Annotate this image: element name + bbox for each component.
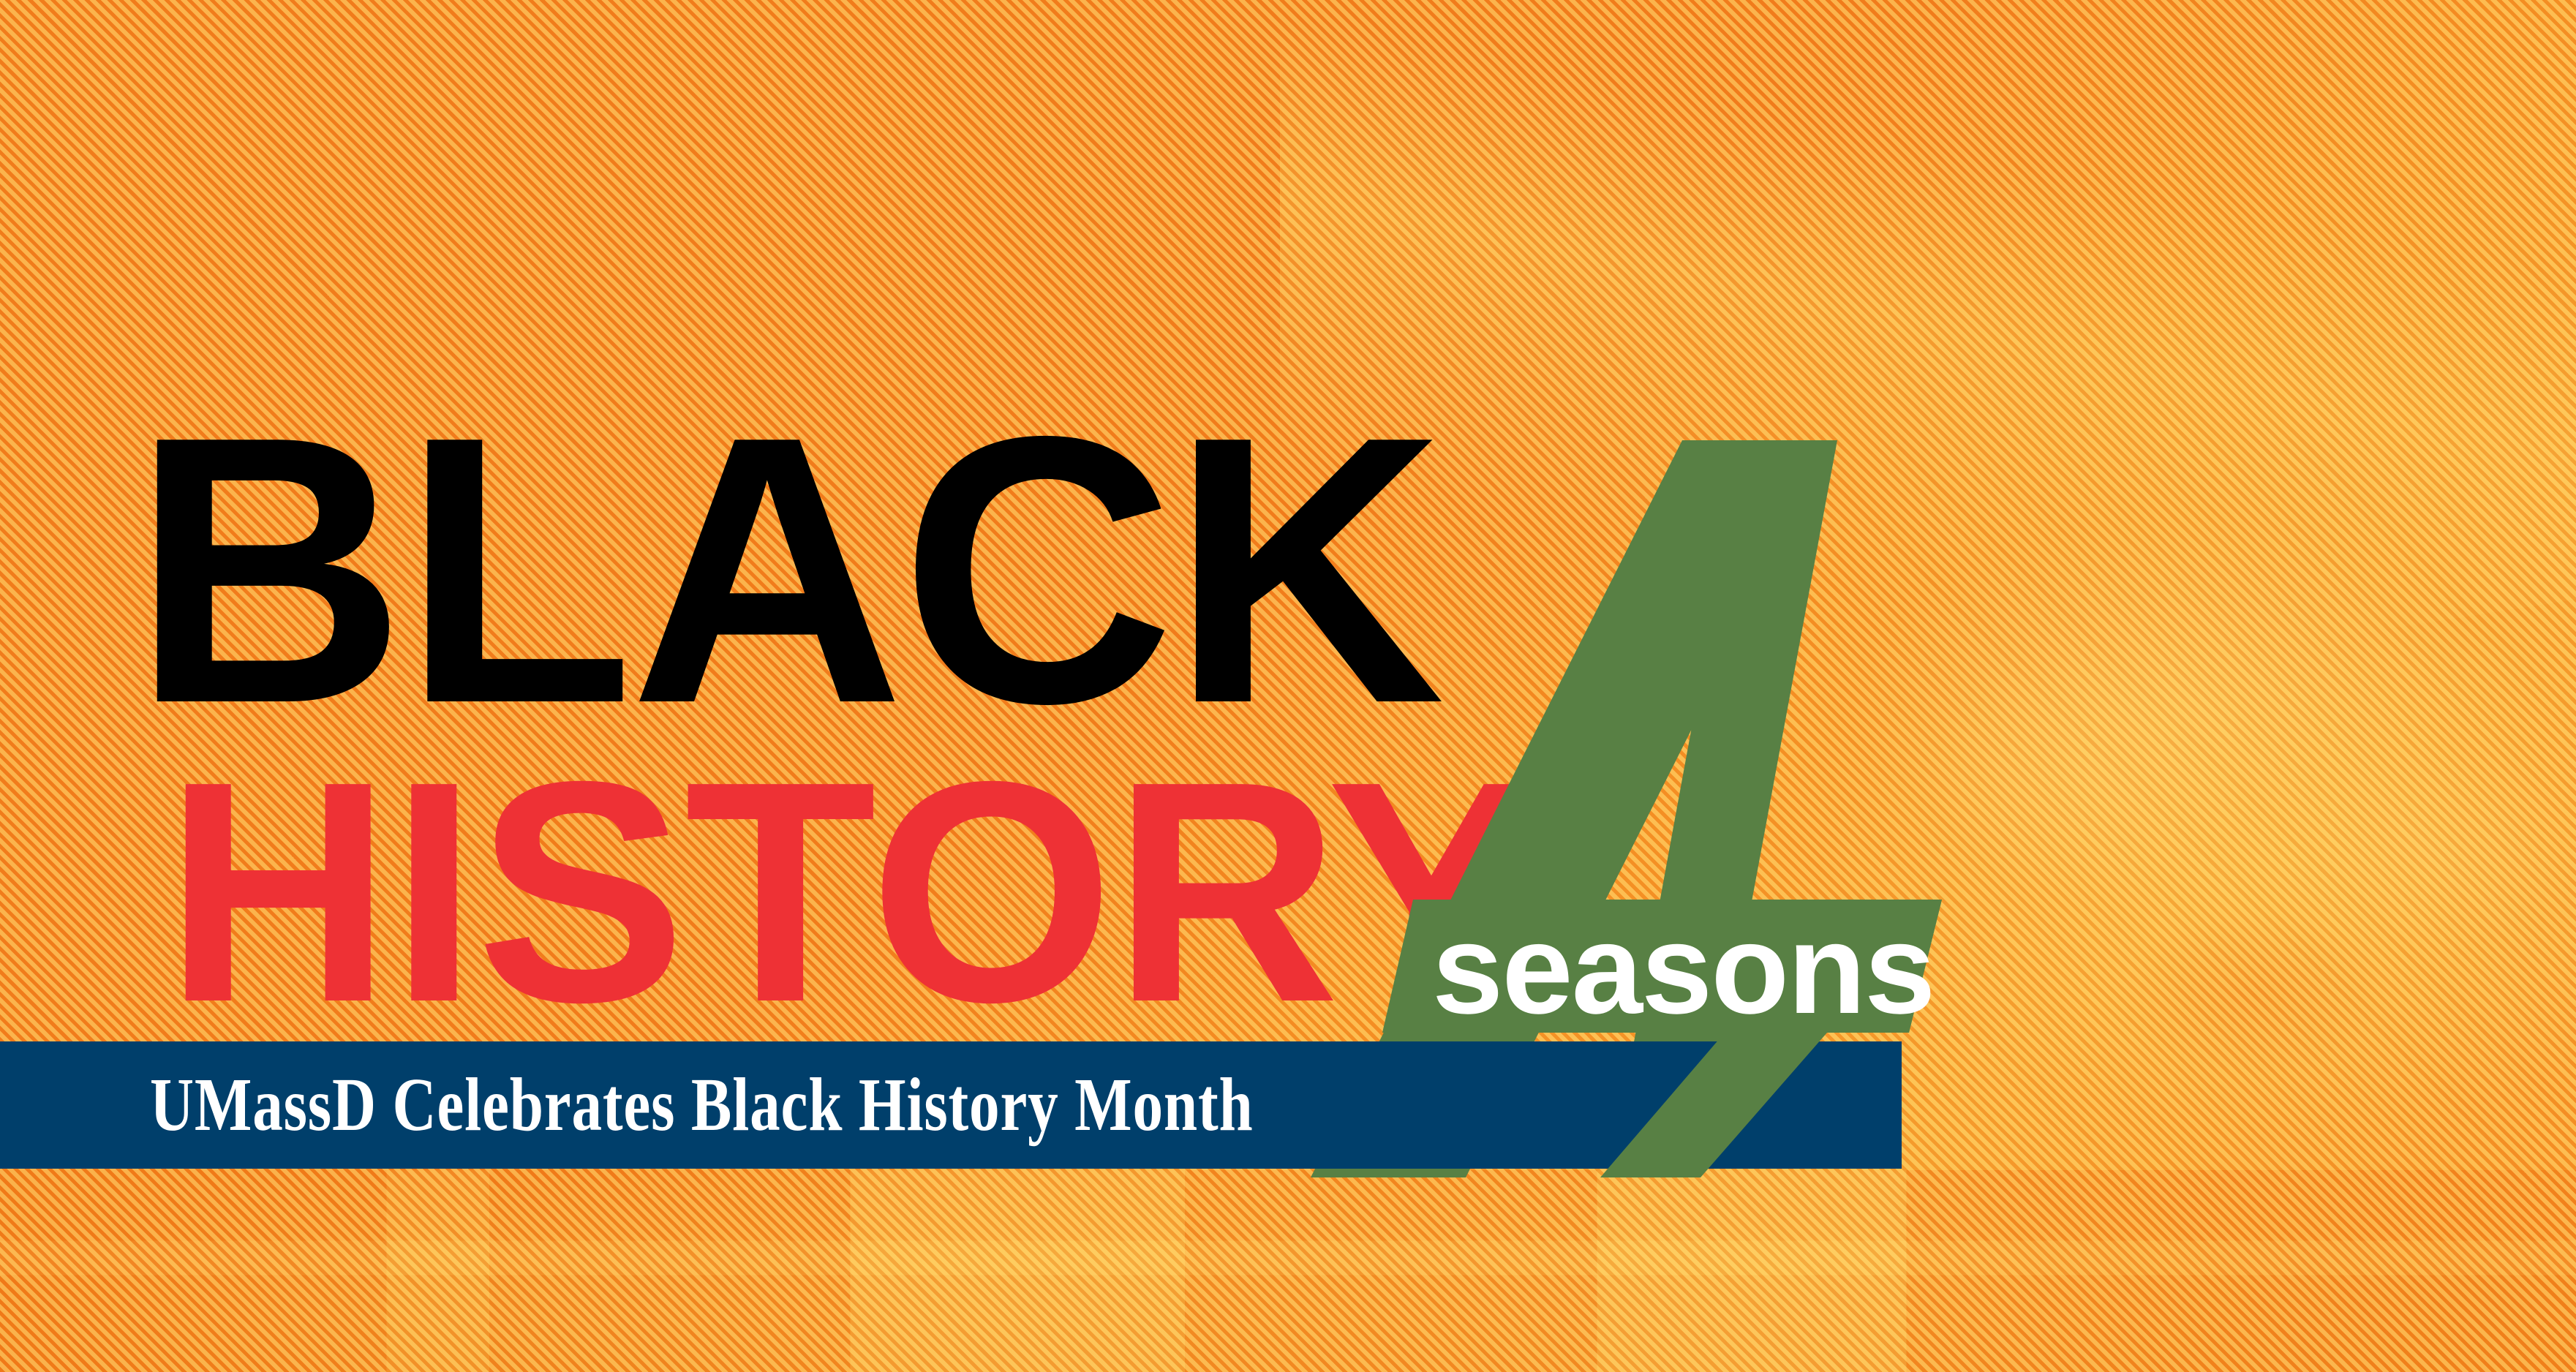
banner-headline-text: UMassD Celebrates Black History Month	[150, 1056, 1496, 1154]
background-photo-architecture-right	[1872, 556, 2576, 1112]
seasons-wordmark: seasons	[1432, 905, 1934, 1033]
black-history-month-poster: HISTORY BLACK UMassD Celebrates Black Hi…	[0, 0, 2576, 1372]
background-photo-architecture-bottom	[0, 1170, 2576, 1372]
